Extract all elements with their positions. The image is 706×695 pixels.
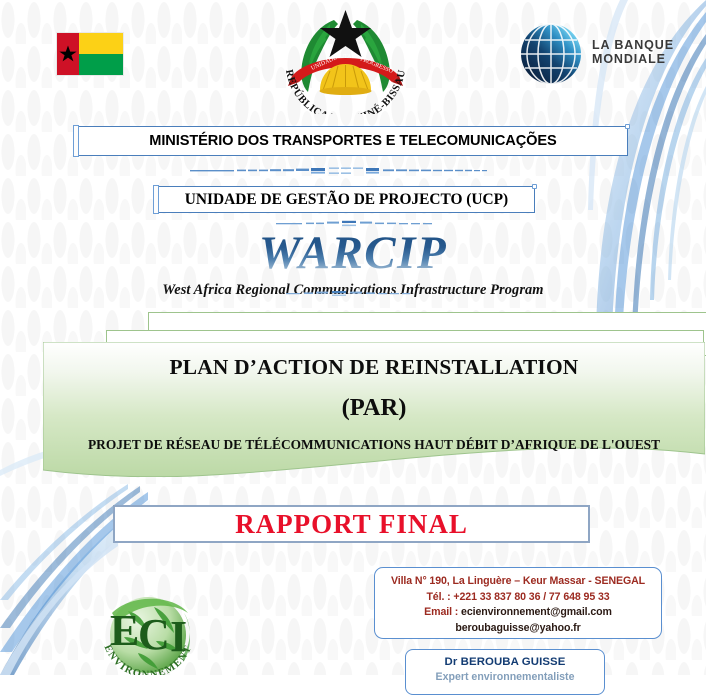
- author-name: Dr BEROUBA GUISSE: [406, 655, 604, 670]
- ministry-box: MINISTÉRIO DOS TRANSPORTES E TELECOMUNIC…: [78, 126, 628, 156]
- svg-text:E: E: [110, 606, 139, 655]
- contact-address: Villa N° 190, La Linguère – Keur Massar …: [375, 574, 661, 590]
- world-bank-label: LA BANQUE MONDIALE: [592, 38, 674, 66]
- svg-text:LUTA: LUTA: [336, 54, 352, 60]
- box-corner-handle: [625, 124, 630, 129]
- contact-email-row: Email : ecienvironnement@gmail.com: [375, 605, 661, 621]
- ornament-divider-3: [286, 288, 426, 300]
- contact-email[interactable]: ecienvironnement@gmail.com: [461, 606, 612, 618]
- title-line-2: (PAR): [43, 394, 705, 422]
- contact-box: Villa N° 190, La Linguère – Keur Massar …: [374, 567, 662, 639]
- title-line-3: PROJET DE RÉSEAU DE TÉLÉCOMMUNICATIONS H…: [43, 436, 705, 454]
- project-unit-box: UNIDADE DE GESTÃO DE PROJECTO (UCP): [158, 186, 535, 213]
- contact-email-label: Email :: [424, 606, 458, 618]
- warcip-wordmark: WARCIP: [0, 228, 706, 278]
- title-block-stack: PLAN D’ACTION DE REINSTALLATION (PAR) PR…: [0, 300, 706, 490]
- ornament-divider-1: [190, 164, 490, 178]
- box-left-tab: [73, 125, 79, 157]
- guinea-bissau-flag-icon: [57, 33, 123, 75]
- ministry-label: MINISTÉRIO DOS TRANSPORTES E TELECOMUNIC…: [79, 127, 627, 155]
- svg-text:C: C: [138, 610, 170, 659]
- contact-phone: Tél. : +221 33 837 80 36 / 77 648 95 33: [375, 590, 661, 606]
- author-role: Expert environnementaliste: [406, 670, 604, 684]
- box-left-tab: [153, 185, 159, 214]
- coat-of-arms-icon: UNIDADE LUTA PROGRESSO REPÚBLICA DA GUIN…: [268, 2, 423, 114]
- world-bank-line1: LA BANQUE: [592, 38, 674, 52]
- title-box-content: PLAN D’ACTION DE REINSTALLATION (PAR) PR…: [43, 342, 705, 454]
- box-corner-handle: [532, 184, 537, 189]
- title-line-1: PLAN D’ACTION DE REINSTALLATION: [43, 355, 705, 380]
- world-bank-line2: MONDIALE: [592, 52, 674, 66]
- world-bank-logo: LA BANQUE MONDIALE: [519, 22, 687, 88]
- logo-row: UNIDADE LUTA PROGRESSO REPÚBLICA DA GUIN…: [0, 0, 706, 122]
- report-status-box: RAPPORT FINAL: [113, 505, 590, 543]
- contact-email-alt[interactable]: beroubaguisse@yahoo.fr: [375, 621, 661, 637]
- eci-environnement-logo: E C I ENVIRONNEMENT: [88, 583, 208, 675]
- title-box: PLAN D’ACTION DE REINSTALLATION (PAR) PR…: [43, 342, 705, 477]
- project-unit-label: UNIDADE DE GESTÃO DE PROJECTO (UCP): [159, 187, 534, 212]
- globe-icon: [519, 22, 583, 86]
- author-box: Dr BEROUBA GUISSE Expert environnemental…: [405, 649, 605, 695]
- report-status-label: RAPPORT FINAL: [115, 507, 588, 541]
